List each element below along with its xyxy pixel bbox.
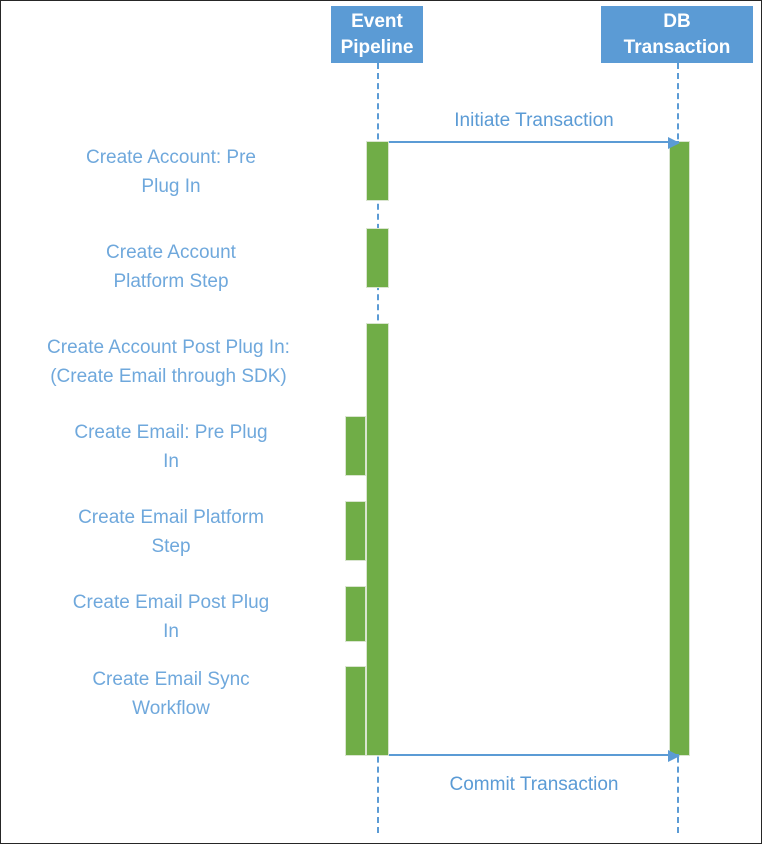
arrowhead-icon: [668, 137, 680, 149]
sequence-diagram-canvas: Event Pipeline DB Transaction Initiate T…: [0, 0, 762, 844]
activation-create-email-post-plug-in[interactable]: [345, 586, 366, 642]
step-label-create-email-pre-plug-in: Create Email: Pre Plug In: [6, 418, 336, 476]
message-label-initiate-transaction: Initiate Transaction: [389, 109, 679, 133]
activation-create-account-post-plug-in[interactable]: [366, 323, 389, 756]
message-arrow-commit-transaction[interactable]: [389, 754, 679, 756]
step-label-create-account-platform-step: Create Account Platform Step: [6, 238, 336, 296]
step-label-create-account-pre-plug-in: Create Account: Pre Plug In: [6, 143, 336, 201]
step-label-create-email-post-plug-in: Create Email Post Plug In: [6, 588, 336, 646]
step-label-create-email-platform-step: Create Email Platform Step: [6, 503, 336, 561]
arrowhead-icon: [668, 750, 680, 762]
message-label-commit-transaction: Commit Transaction: [389, 773, 679, 797]
activation-create-account-platform-step[interactable]: [366, 228, 389, 288]
activation-create-email-platform-step[interactable]: [345, 501, 366, 561]
message-arrow-initiate-transaction[interactable]: [389, 141, 679, 143]
activation-create-email-pre-plug-in[interactable]: [345, 416, 366, 476]
step-label-create-email-sync-workflow: Create Email Sync Workflow: [6, 665, 336, 723]
activation-db-transaction[interactable]: [669, 141, 690, 756]
activation-create-account-pre-plug-in[interactable]: [366, 141, 389, 201]
step-label-create-account-post-plug-in: Create Account Post Plug In: (Create Ema…: [1, 333, 336, 391]
participant-event-pipeline[interactable]: Event Pipeline: [331, 6, 423, 63]
participant-db-transaction[interactable]: DB Transaction: [601, 6, 753, 63]
activation-create-email-sync-workflow[interactable]: [345, 666, 366, 756]
